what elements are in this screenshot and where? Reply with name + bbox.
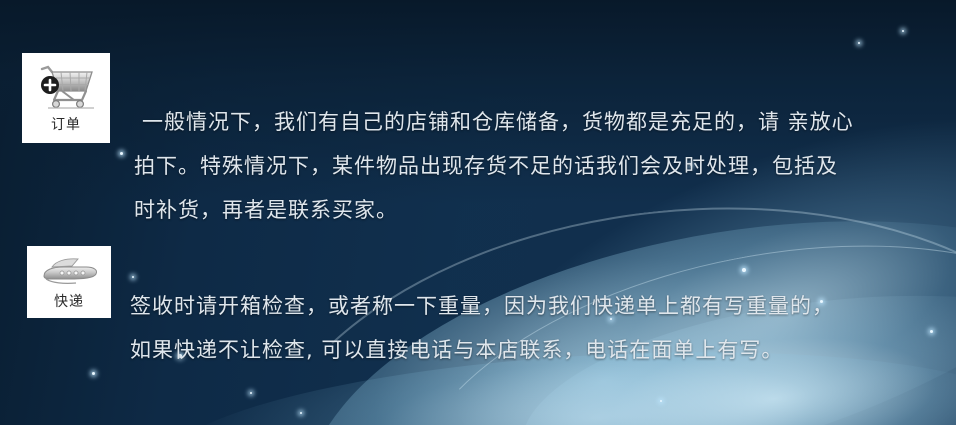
paragraph-line: 如果快递不让检查, 可以直接电话与本店联系，电话在面单上有写。 <box>130 328 834 372</box>
paragraph-line: 一般情况下，我们有自己的店铺和仓库储备，货物都是充足的，请 亲放心 <box>142 100 854 144</box>
paragraph-stock-policy: 一般情况下，我们有自己的店铺和仓库储备，货物都是充足的，请 亲放心 拍下。特殊情… <box>142 100 854 232</box>
airplane-delivery-icon <box>38 254 100 291</box>
icon-card-express: 快递 <box>27 246 111 318</box>
paragraph-line: 签收时请开箱检查，或者称一下重量，因为我们快递单上都有写重量的， <box>130 284 834 328</box>
paragraph-line: 拍下。特殊情况下，某件物品出现存货不足的话我们会及时处理，包括及 <box>134 144 854 188</box>
promo-banner: 订单 <box>0 0 956 425</box>
paragraph-delivery-policy: 签收时请开箱检查，或者称一下重量，因为我们快递单上都有写重量的， 如果快递不让检… <box>130 284 834 372</box>
icon-card-order-label: 订单 <box>51 118 81 133</box>
icon-card-order: 订单 <box>22 53 110 143</box>
shopping-cart-add-icon <box>34 63 98 116</box>
paragraph-line: 时补货，再者是联系买家。 <box>134 188 854 232</box>
icon-card-express-label: 快递 <box>54 295 84 310</box>
